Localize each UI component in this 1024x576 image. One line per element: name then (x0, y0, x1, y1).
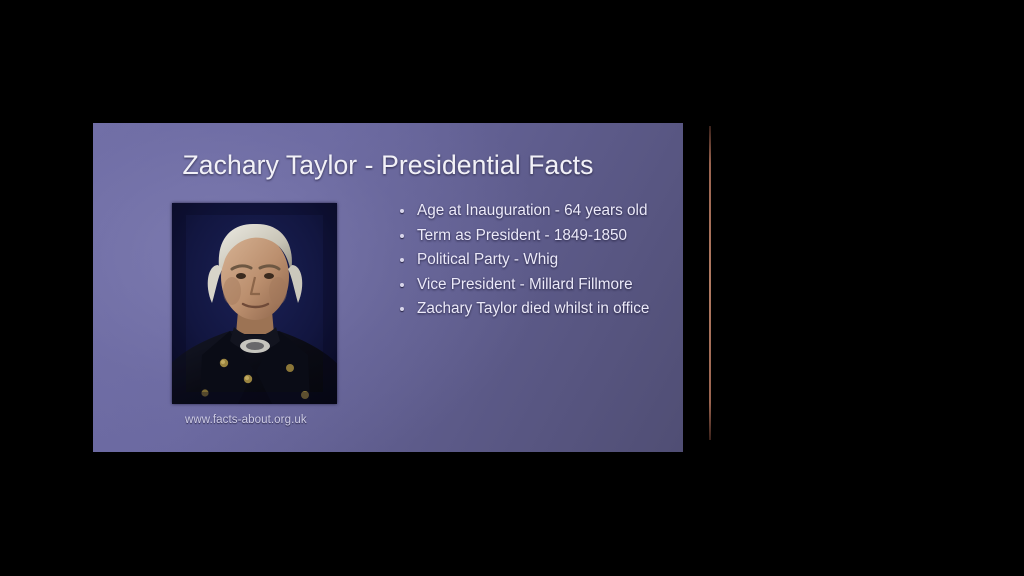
list-item: Vice President - Millard Fillmore (396, 275, 658, 295)
source-watermark: www.facts-about.org.uk (185, 414, 365, 426)
portrait-image (172, 203, 337, 404)
list-item: Political Party - Whig (396, 250, 658, 270)
list-item-label: Term as President - 1849-1850 (417, 227, 627, 244)
portrait-block (172, 203, 337, 404)
list-item: Zachary Taylor died whilst in office (396, 299, 658, 319)
list-item: Term as President - 1849-1850 (396, 226, 658, 246)
bullet-icon (400, 209, 404, 213)
list-item: Age at Inauguration - 64 years old (396, 201, 658, 221)
bullet-icon (400, 258, 404, 262)
portrait-illustration (172, 203, 337, 404)
presentation-slide: Zachary Taylor - Presidential Facts (93, 123, 683, 452)
bullet-icon (400, 283, 404, 287)
list-item-label: Age at Inauguration - 64 years old (417, 202, 647, 219)
vertical-divider-rule (709, 126, 711, 440)
bullet-icon (400, 307, 404, 311)
facts-list: Age at Inauguration - 64 years old Term … (396, 201, 658, 324)
bullet-icon (400, 234, 404, 238)
list-item-label: Zachary Taylor died whilst in office (417, 300, 649, 317)
list-item-label: Political Party - Whig (417, 251, 558, 268)
video-frame: Zachary Taylor - Presidential Facts (0, 0, 1024, 576)
list-item-label: Vice President - Millard Fillmore (417, 276, 633, 293)
page-title: Zachary Taylor - Presidential Facts (93, 150, 683, 181)
